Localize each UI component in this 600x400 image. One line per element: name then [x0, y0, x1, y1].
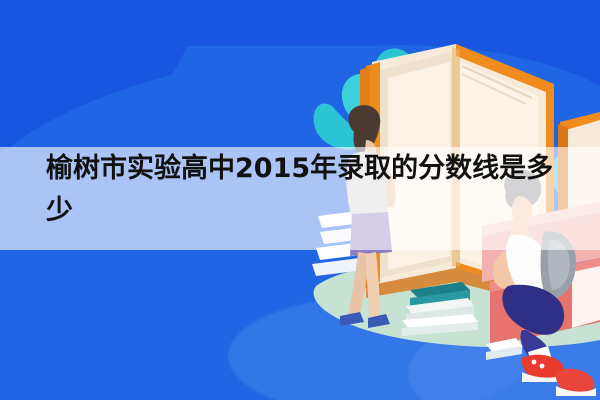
- book-stack-teal: [402, 282, 478, 336]
- caption-title: 榆树市实验高中2015年录取的分数线是多少: [46, 148, 566, 232]
- image-card: 榆树市实验高中2015年录取的分数线是多少: [0, 0, 600, 400]
